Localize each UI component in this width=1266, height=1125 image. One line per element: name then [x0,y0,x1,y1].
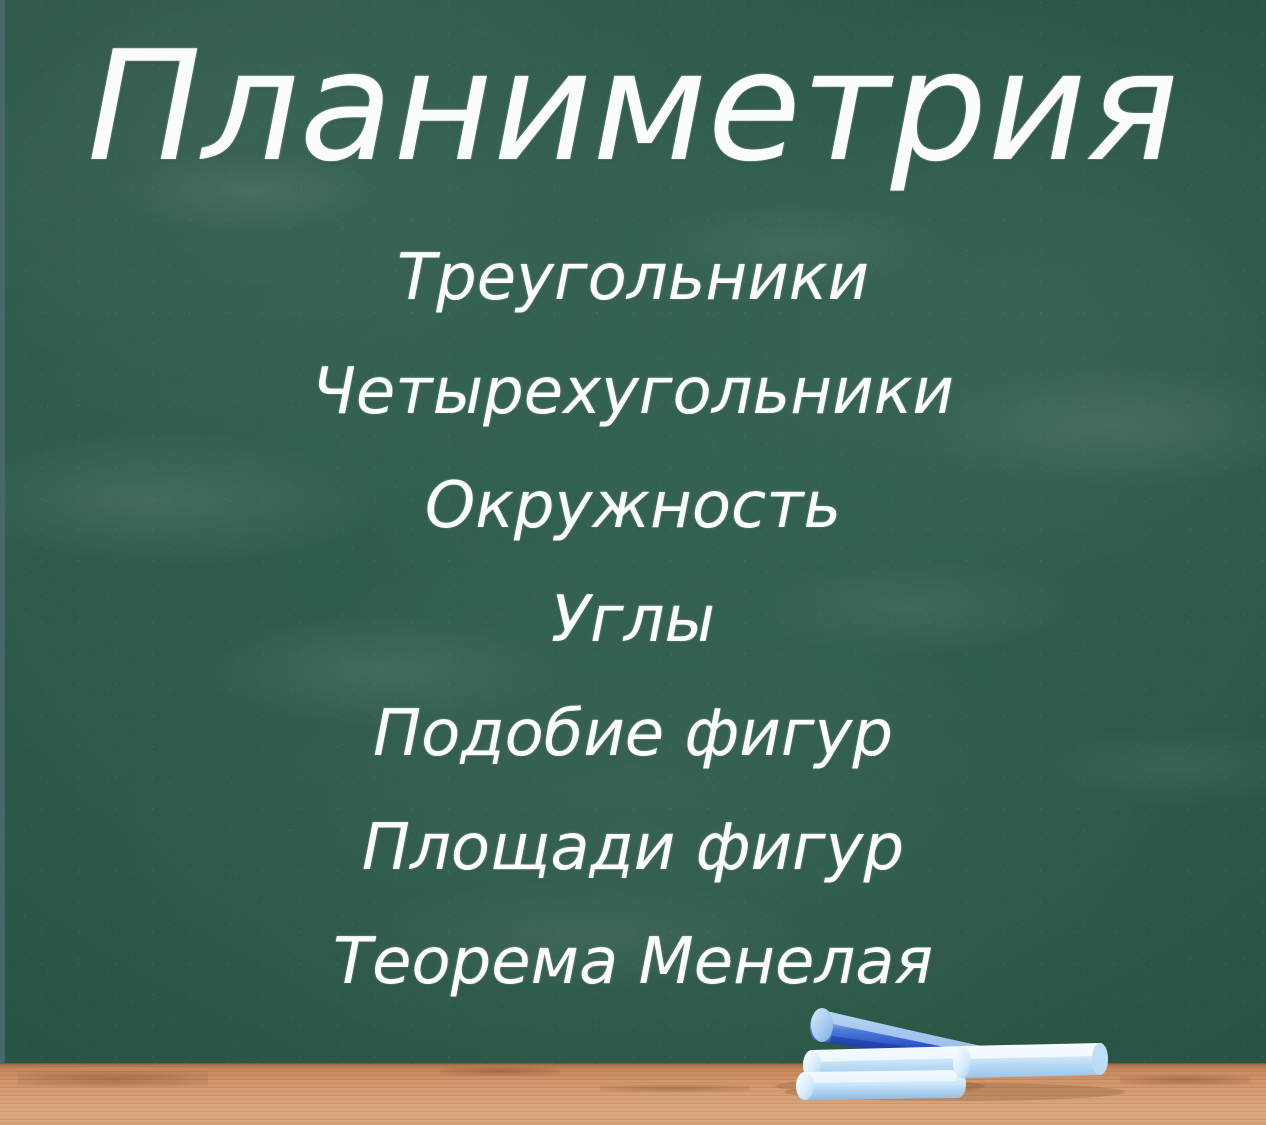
page-title: Планиметрия [0,22,1266,192]
wooden-ledge [0,1063,1266,1125]
topic-item-similarity: Подобие фигур [0,702,1266,764]
ledge-top-shadow [0,1063,1266,1067]
wood-knot [18,1071,208,1087]
wood-knot [600,1085,750,1092]
wood-knot [1120,1075,1250,1085]
topic-list: Треугольники Четырехугольники Окружность… [0,246,1266,1044]
wood-knot [440,1067,560,1076]
topic-item-triangles: Треугольники [0,246,1266,308]
topic-item-circle: Окружность [0,474,1266,536]
topic-item-areas: Площади фигур [0,816,1266,878]
slide-content: Планиметрия Треугольники Четырехугольник… [0,0,1266,1125]
topic-item-angles: Углы [0,588,1266,650]
topic-item-menelaus: Теорема Менелая [0,930,1266,992]
wood-grain-texture [0,1063,1266,1125]
topic-item-quadrilaterals: Четырехугольники [0,360,1266,422]
chalkboard-slide: Планиметрия Треугольники Четырехугольник… [0,0,1266,1125]
